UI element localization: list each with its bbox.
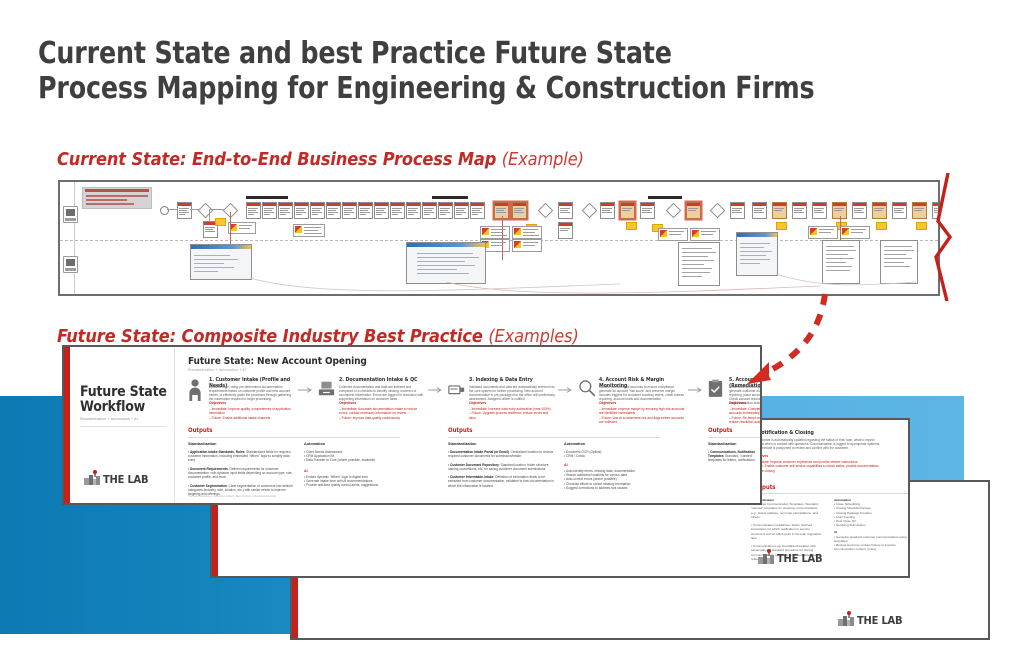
outputs-items-standardization-1: • Application Intake Standards, Rules: S… [188,450,294,496]
task-box [558,202,573,219]
lab-logo-wordmark: THE LAB [777,553,822,564]
phase-group-bar [246,196,288,199]
task-box [177,202,192,219]
scanner-icon [318,379,335,401]
outputs-rule [708,437,762,438]
transition-arrow-icon [735,288,865,400]
future-step-2-objectives: – Immediate: Automate documentation inta… [339,407,426,420]
task-box [422,202,437,219]
task-box [262,202,277,219]
page-title: Current State and best Practice Future S… [38,36,903,106]
task-box [390,202,405,219]
task-box [406,202,421,219]
future-state-panel-title: Future State Workflow [80,385,176,415]
outputs-items-automation-1: • Client Needs Assessment• CRM Applicati… [304,450,396,463]
outputs-col-header-standardization-3: Standardization [708,442,736,446]
outputs-rule [751,493,909,494]
pain-point-note [512,226,542,239]
map-legend-block [82,187,152,209]
future-step-6-objectives: – Immediate: Improve customer experience… [751,460,882,473]
task-box [812,202,827,219]
swimlane-icon-back-office [63,256,78,273]
pain-point-note [480,226,510,239]
future-step-6-title: 6. Notification & Closing [751,430,882,436]
future-step-3-title: 3. Indexing & Data Entry [469,377,556,383]
connector [209,209,210,221]
task-box [792,202,807,219]
person-icon [188,379,205,401]
future-step-5-objectives: – Immediate: Complete resolution actions… [729,407,762,424]
future-step-3-body: Validated documents and data are automat… [469,385,556,401]
sticky-note [626,222,637,230]
task-box [246,202,261,219]
card-title: Future State: New Account Opening [188,356,367,367]
outputs-col-header-automation-1: Automation [304,442,325,446]
sticky-note [916,222,927,230]
current-state-process-map[interactable] [58,180,940,296]
lab-logo: THE LAB [838,613,902,626]
step-arrow-icon [298,387,314,393]
section-caption-future-label: Future State: Composite Industry Best Pr… [57,326,483,347]
outputs-items-standardization-3: • Communications, Notification Templates… [708,450,762,463]
task-box [558,222,573,239]
section-caption-current-state: Current State: End-to-End Business Proce… [57,149,584,170]
task-box [374,202,389,219]
outputs-rule [448,437,660,438]
task-box [852,202,867,219]
task-box-highlighted [512,202,527,219]
future-state-panel-title-line-2: Workflow [80,399,145,415]
task-box [438,202,453,219]
card-footnote: The Lab Consulting • Composite Industry … [188,495,276,498]
task-box [294,202,309,219]
future-step-1-objectives: – Immediate: Improve quality, completene… [209,407,296,420]
section-caption-future-state: Future State: Composite Industry Best Pr… [57,326,579,347]
task-box-highlighted [772,202,787,219]
section-caption-future-qualifier: (Examples) [488,326,578,347]
pain-point-note [808,226,838,239]
pain-point-note [512,239,542,252]
lab-logo-mark [758,551,774,564]
leader-line [502,216,503,260]
future-step-2-title: 2. Documentation Intake & QC [339,377,426,383]
task-box [358,202,373,219]
pain-point-note [293,224,325,237]
card-left-panel: Future State Workflow Standardization + … [70,347,175,503]
future-step-4-objectives: – Immediate: Improve margin by ensuring … [599,407,686,424]
page-title-line-2: Process Mapping for Engineering & Constr… [38,71,903,106]
lab-logo-mark [84,472,100,485]
task-box [326,202,341,219]
task-box [278,202,293,219]
future-state-card-front[interactable]: Future State Workflow Standardization + … [62,345,762,505]
task-box [730,202,745,219]
outputs-rule [188,437,400,438]
task-box [752,202,767,219]
section-caption-current-qualifier: (Example) [502,149,584,170]
future-step-2-body: Collected documentation and data are ind… [339,385,426,401]
outputs-ai-header-2: AI [564,463,568,467]
swimlane-header-column [74,182,75,294]
map-legend-row [86,195,148,197]
outputs-col-header-automation-2: Automation [564,442,585,446]
outputs-items-standardization-2: • Documentation Intake Portal (or Email)… [448,450,554,488]
panel-divider [80,426,166,427]
card-subtitle: Standardization + Automation + AI [188,368,246,372]
swimlane-icon-front-office [63,206,78,223]
lab-logo-wordmark: THE LAB [103,474,148,485]
decision-gateway [538,203,554,219]
sticky-note [776,222,787,230]
pain-point-note [658,228,688,241]
decision-gateway [710,203,726,219]
outputs-ai-header-1: AI [304,469,308,473]
future-step-1-objectives-label: Objectives [209,401,226,405]
document-thumbnail [880,240,918,284]
pain-point-note [228,222,256,234]
future-step-2-objectives-label: Objectives [339,401,356,405]
future-step-4-body: Routine monitoring of accounts to ensure… [599,385,686,401]
future-step-3-objectives: – Immediate: Increase data entry automat… [469,407,556,420]
decision-gateway [198,203,214,219]
outputs-header-1: Outputs [188,427,213,434]
magnifier-icon [578,379,595,401]
sticky-note [876,222,887,230]
step-arrow-icon [688,387,704,393]
lab-logo-mark [838,613,854,626]
scanner-icon [448,379,465,401]
task-box [342,202,357,219]
step-arrow-icon [428,387,444,393]
screenshot-thumbnail [736,232,778,276]
lab-logo: THE LAB [84,472,148,485]
task-box-highlighted [620,202,635,219]
task-box [454,202,469,219]
future-step-1-body: Dynamic logic, using pre-determined docu… [209,385,296,401]
task-box-highlighted [872,202,887,219]
task-box [470,202,485,219]
task-box-highlighted [686,202,701,219]
document-thumbnail [822,240,860,284]
outputs-items-ai-1: • Embed dynamic "if/then" logic in digit… [304,475,396,488]
task-box-highlighted [912,202,927,219]
torn-edge-graphic [930,173,956,301]
phase-group-bar [648,196,682,199]
future-state-panel-title-line-1: Future State [80,384,167,400]
future-step-6-body: The customer is automatically updated re… [751,438,882,450]
outputs-header-2: Outputs [448,427,473,434]
slide-canvas: Current State and best Practice Future S… [0,0,1024,663]
pain-point-note [690,228,720,241]
document-thumbnail [678,242,720,286]
decision-gateway [666,203,682,219]
outputs-items-ai-2: • Auto-identify errors, missing data, do… [564,469,656,490]
map-legend-title [85,189,149,192]
lab-logo-wordmark: THE LAB [857,615,902,626]
future-step-3-objectives-label: Objectives [469,401,486,405]
future-step-5-objectives-label: Objectives [729,401,746,405]
map-legend-row [86,199,127,201]
pain-point-note [840,226,870,239]
outputs-items-automation-2: • Document OCR (Optical)• CRM / Check [564,450,656,458]
screenshot-thumbnail [406,242,486,284]
process-start-node [160,206,169,215]
outputs-col-header-standardization-2: Standardization [448,442,476,446]
outputs-header-3: Outputs [708,427,733,434]
lab-logo: THE LAB [758,551,822,564]
future-state-panel-subtitle: Standardization + Automation + AI [80,417,174,421]
task-box [892,202,907,219]
clipboard-check-icon [708,379,725,401]
task-box [310,202,325,219]
screenshot-thumbnail [190,244,252,280]
future-step-4-objectives-label: Objectives [599,401,616,405]
phase-group-bar [432,196,468,199]
task-box [640,202,655,219]
sticky-note [215,218,226,226]
outputs-col-header-standardization-1: Standardization [188,442,216,446]
page-title-line-1: Current State and best Practice Future S… [38,36,903,71]
section-caption-current-label: Current State: End-to-End Business Proce… [57,149,496,170]
map-legend-row [86,203,134,205]
step-arrow-icon [558,387,574,393]
task-box [600,202,615,219]
decision-gateway [582,203,598,219]
connector [167,209,177,210]
